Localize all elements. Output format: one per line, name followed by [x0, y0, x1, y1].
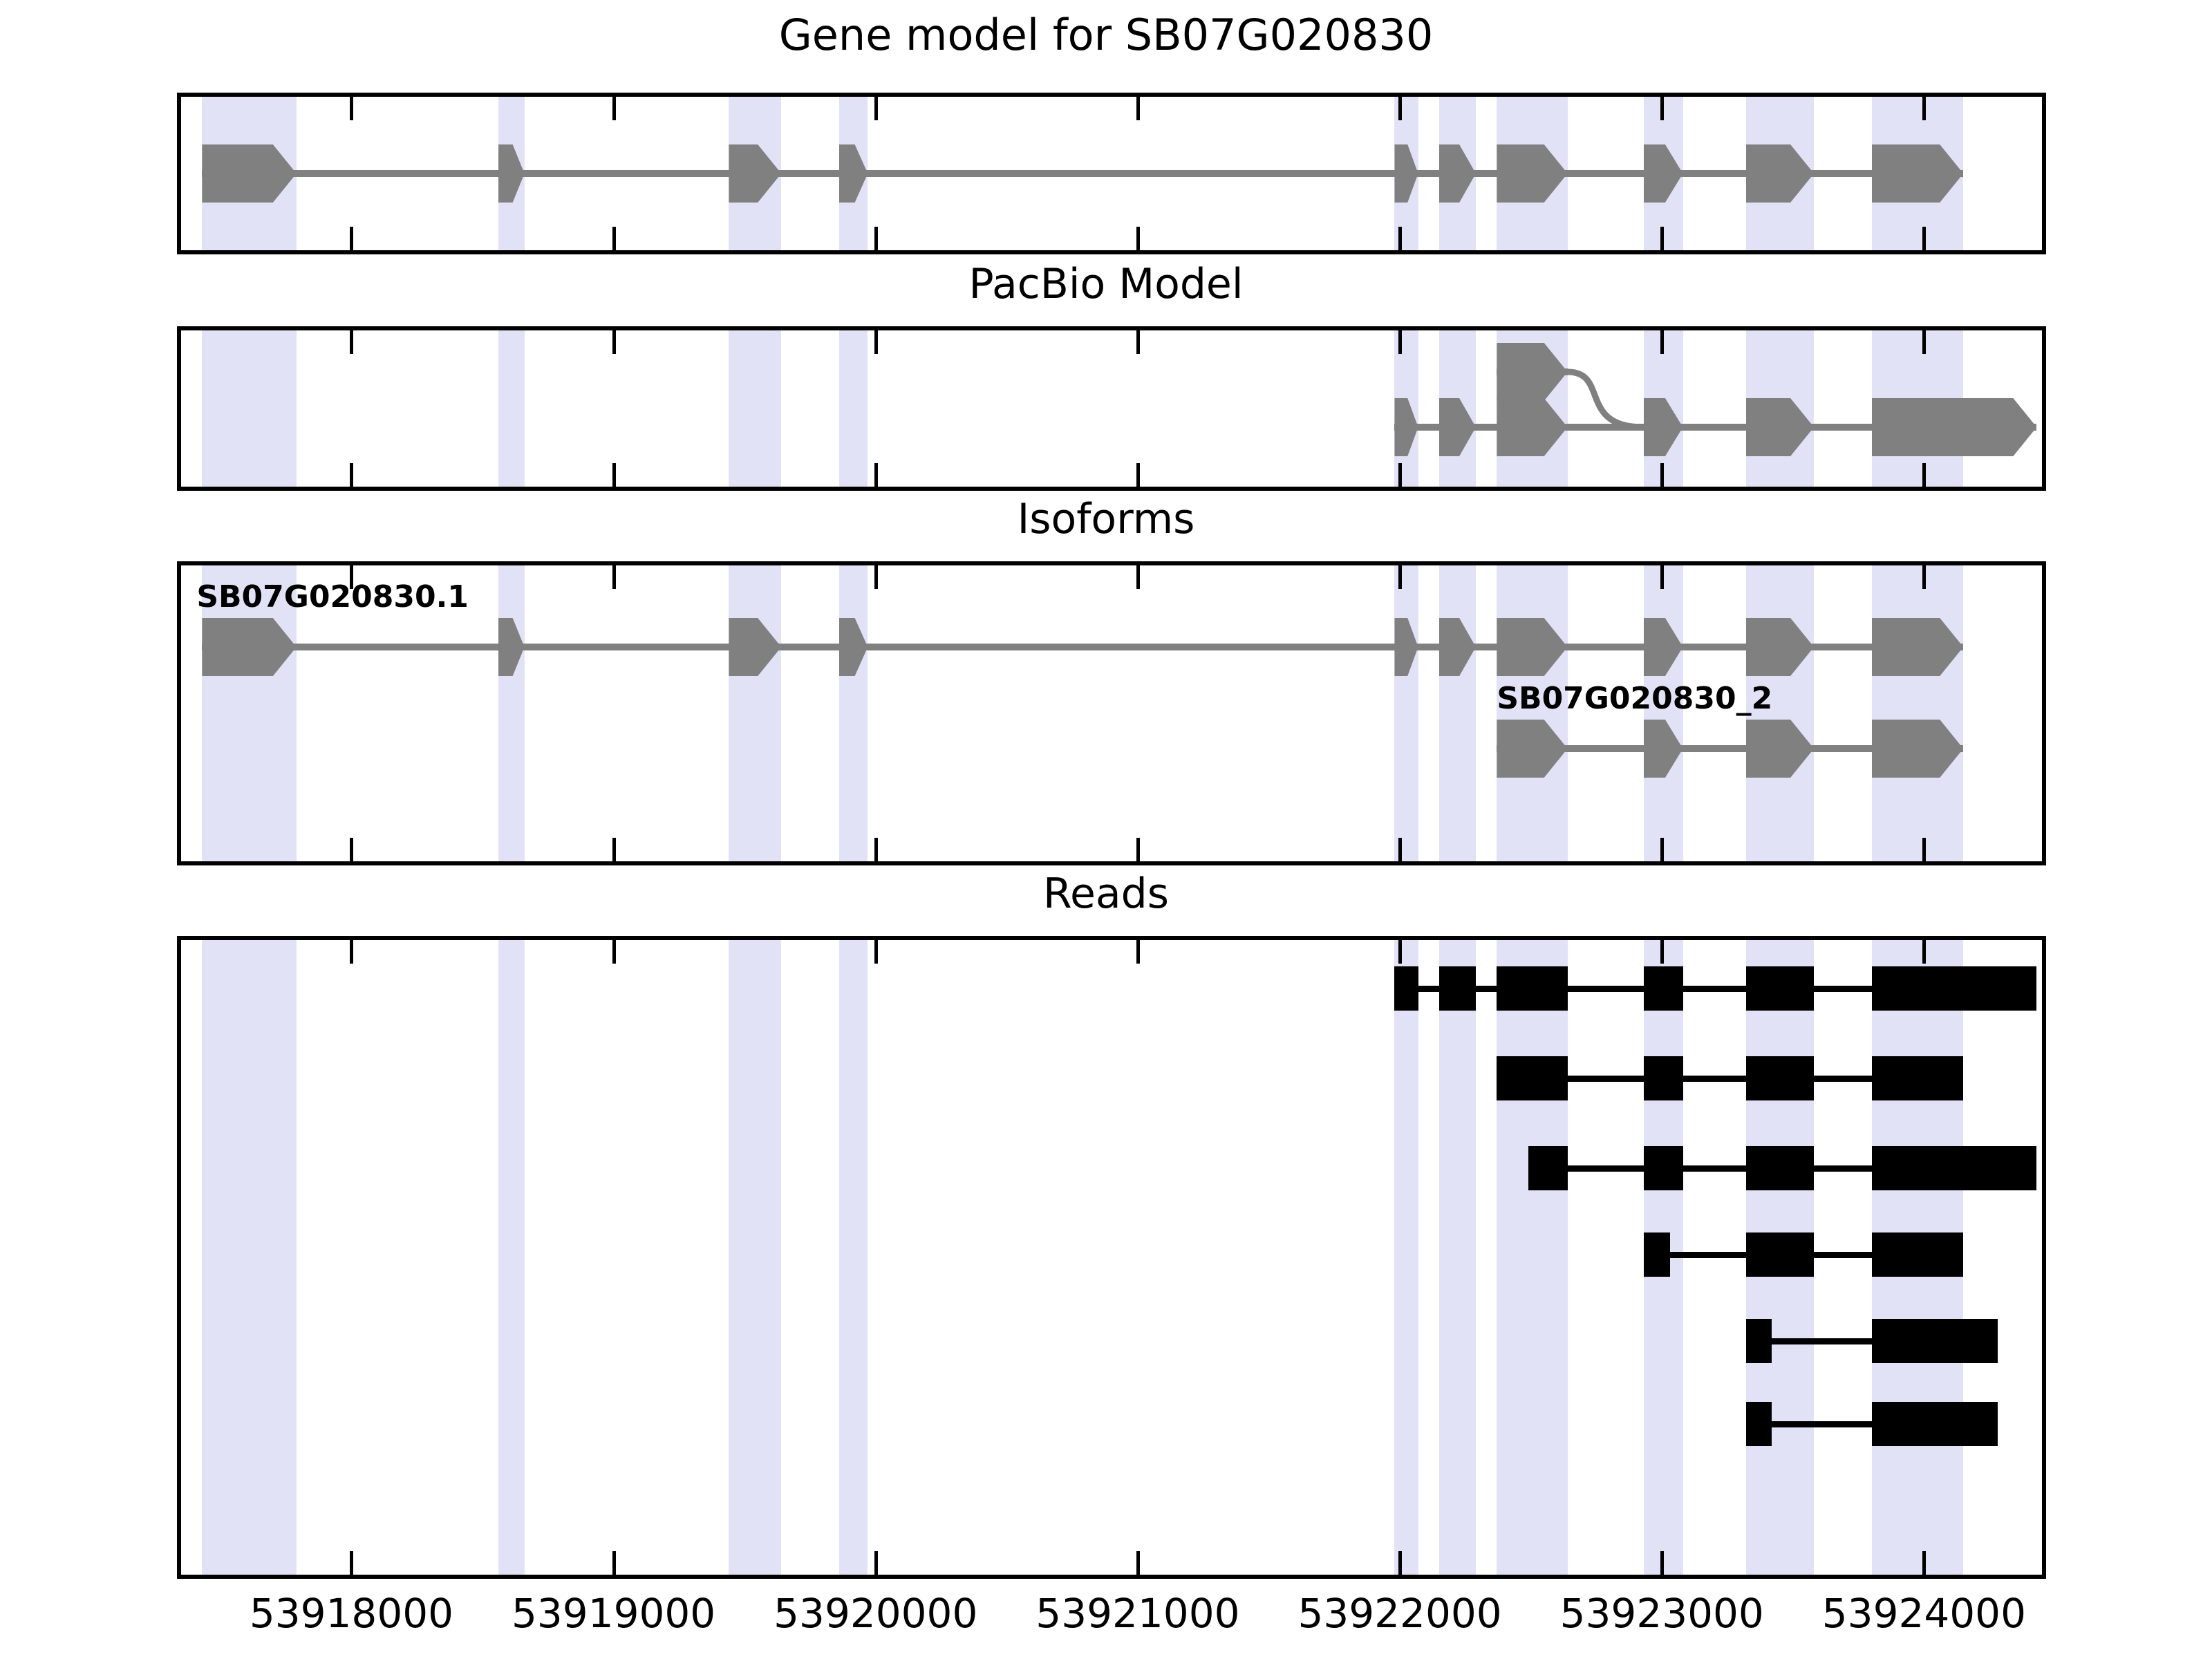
axis-tick — [350, 1551, 353, 1575]
axis-tick — [874, 1551, 878, 1575]
panel-isoforms: SB07G020830_2SB07G020830.1 — [177, 561, 2046, 865]
axis-tick — [1136, 940, 1140, 964]
axis-tick — [612, 97, 616, 120]
isoform-label: SB07G020830_2 — [1497, 681, 1772, 716]
highlight-band — [839, 565, 868, 861]
x-tick-label: 53924000 — [1785, 1590, 2062, 1637]
highlight-band — [498, 940, 525, 1575]
highlight-band — [1497, 940, 1567, 1575]
axis-tick — [1660, 97, 1664, 120]
x-tick-label: 53921000 — [1000, 1590, 1276, 1637]
intron-line — [202, 170, 1963, 177]
panel-title-reads: Reads — [0, 870, 2212, 918]
panel-gene-model — [177, 93, 2046, 254]
intron-line — [202, 644, 1963, 650]
axis-tick — [612, 565, 616, 589]
read-exon-block — [1746, 966, 1815, 1011]
x-tick-label: 53922000 — [1262, 1590, 1538, 1637]
highlight-band — [729, 940, 781, 1575]
axis-tick — [1136, 1551, 1140, 1575]
axis-tick — [1398, 838, 1402, 861]
axis-tick — [874, 940, 878, 964]
axis-tick — [1922, 940, 1926, 964]
axis-tick — [350, 940, 353, 964]
axis-tick — [1660, 940, 1664, 964]
x-tick-label: 53920000 — [738, 1590, 1014, 1637]
axis-tick — [1398, 227, 1402, 250]
highlight-band — [1439, 940, 1476, 1575]
read-exon-block — [1644, 1232, 1670, 1277]
read-exon-block — [1872, 966, 2037, 1011]
splice-connector — [181, 330, 2042, 489]
axis-tick — [1660, 838, 1664, 861]
panel-reads — [177, 936, 2046, 1579]
highlight-band — [1872, 565, 1964, 861]
axis-tick — [1922, 97, 1926, 120]
highlight-band — [839, 940, 868, 1575]
read-exon-block — [1746, 1056, 1815, 1100]
panel-pacbio-model — [177, 326, 2046, 491]
read-exon-block — [1644, 1146, 1683, 1190]
axis-tick — [1922, 565, 1926, 589]
axis-tick — [612, 838, 616, 861]
read-exon-block — [1439, 966, 1476, 1011]
x-tick-label: 53919000 — [476, 1590, 752, 1637]
highlight-band — [202, 940, 296, 1575]
axis-tick — [1136, 97, 1140, 120]
axis-tick — [874, 565, 878, 589]
highlight-band — [729, 565, 781, 861]
panel-title-isoforms: Isoforms — [0, 495, 2212, 543]
figure-canvas: Gene model for SB07G020830 PacBio Model … — [0, 0, 2212, 1659]
read-exon-block — [1746, 1319, 1772, 1363]
axis-tick — [1922, 227, 1926, 250]
axis-tick — [874, 227, 878, 250]
axis-tick — [350, 838, 353, 861]
axis-tick — [350, 227, 353, 250]
axis-tick — [1660, 1551, 1664, 1575]
read-exon-block — [1528, 1146, 1568, 1190]
axis-tick — [1922, 1551, 1926, 1575]
axis-tick — [612, 227, 616, 250]
x-tick-label: 53923000 — [1524, 1590, 1800, 1637]
read-exon-block — [1644, 1056, 1683, 1100]
read-exon-block — [1872, 1232, 1964, 1277]
axis-tick — [612, 1551, 616, 1575]
axis-tick — [612, 940, 616, 964]
panel-title-pacbio-model: PacBio Model — [0, 260, 2212, 308]
read-exon-block — [1644, 966, 1683, 1011]
read-exon-block — [1872, 1402, 1998, 1446]
read-exon-block — [1746, 1146, 1815, 1190]
axis-tick — [350, 97, 353, 120]
read-exon-block — [1746, 1402, 1772, 1446]
axis-tick — [1660, 227, 1664, 250]
read-exon-block — [1872, 1146, 2037, 1190]
axis-tick — [1922, 838, 1926, 861]
highlight-band — [1394, 565, 1418, 861]
axis-tick — [1136, 227, 1140, 250]
axis-tick — [1136, 565, 1140, 589]
read-exon-block — [1497, 1056, 1567, 1100]
read-exon-block — [1872, 1056, 1964, 1100]
axis-tick — [1398, 1551, 1402, 1575]
read-exon-block — [1497, 966, 1567, 1011]
read-exon-block — [1872, 1319, 1998, 1363]
highlight-band — [498, 565, 525, 861]
axis-tick — [874, 97, 878, 120]
isoform-label: SB07G020830.1 — [196, 579, 469, 615]
highlight-band — [1439, 565, 1476, 861]
axis-tick — [1136, 838, 1140, 861]
axis-tick — [1398, 565, 1402, 589]
axis-tick — [1398, 97, 1402, 120]
read-exon-block — [1746, 1232, 1815, 1277]
axis-tick — [1660, 565, 1664, 589]
panel-title-gene-model: Gene model for SB07G020830 — [0, 10, 2212, 60]
x-tick-label: 53918000 — [213, 1590, 489, 1637]
axis-tick — [874, 838, 878, 861]
read-exon-block — [1394, 966, 1418, 1011]
axis-tick — [1398, 940, 1402, 964]
highlight-band — [1394, 940, 1418, 1575]
